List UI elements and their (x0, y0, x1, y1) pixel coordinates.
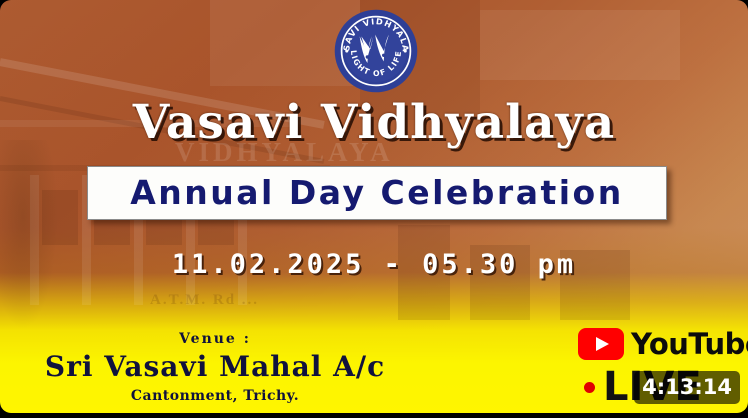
venue-address: Cantonment, Trichy. (0, 387, 430, 405)
ghost-signage-lower: A.T.M. Rd ... (150, 292, 259, 309)
tree-foliage (0, 140, 58, 330)
page-title: Vasavi Vidhyalaya (0, 95, 748, 151)
event-datetime: 11.02.2025 - 05.30 pm (0, 248, 748, 282)
duration-badge: 4:13:14 (634, 371, 740, 404)
bottom-black-bar (0, 413, 748, 418)
school-crest-icon: VASAVI VIDHYALAYA LIGHT OF LIFE (333, 8, 419, 94)
venue-name: Sri Vasavi Mahal A/c (0, 350, 430, 384)
live-dot-icon (584, 382, 595, 393)
subtitle-panel: Annual Day Celebration (87, 166, 667, 220)
building-block (480, 10, 680, 80)
venue-block: Venue : Sri Vasavi Mahal A/c Cantonment,… (0, 330, 430, 405)
event-subtitle: Annual Day Celebration (130, 175, 623, 211)
youtube-brand-row: YouTube (578, 325, 738, 362)
venue-label: Venue : (0, 330, 430, 348)
youtube-play-icon (578, 328, 624, 360)
video-thumbnail[interactable]: VIDHYALAYA A.T.M. Rd ... VASAVI VIDHYALA… (0, 0, 748, 418)
play-triangle-icon (596, 337, 609, 351)
youtube-wordmark: YouTube (631, 328, 748, 360)
